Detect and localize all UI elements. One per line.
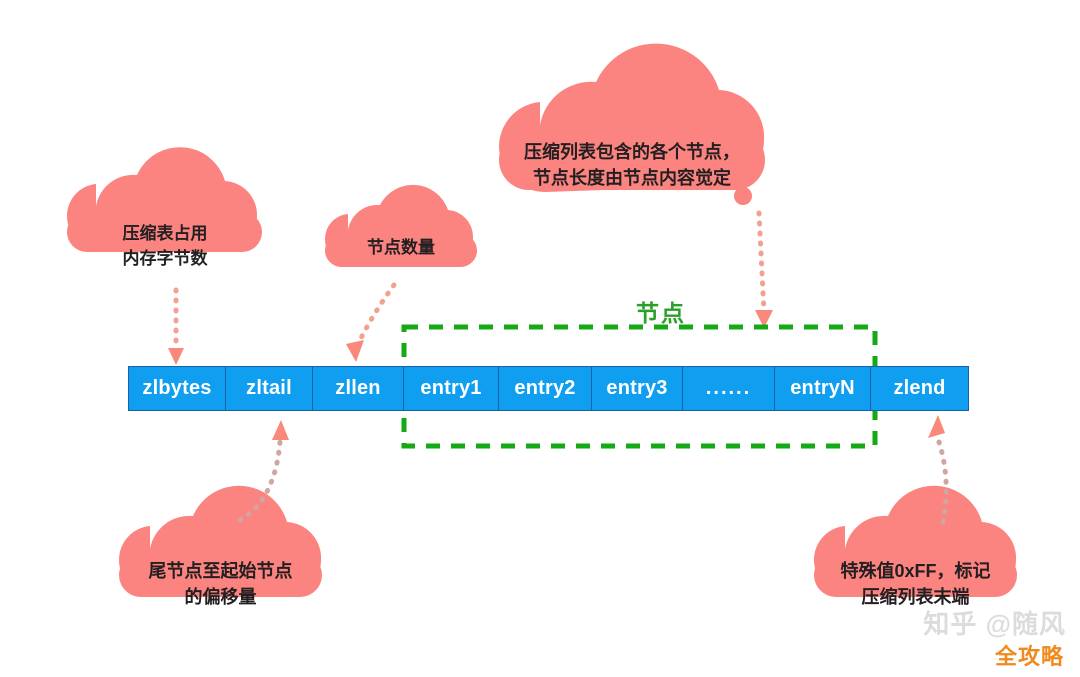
ziplist-cell-label: zllen [335,377,380,400]
connector-entries [755,213,773,328]
watermark-secondary: 全攻略 [995,639,1064,671]
ziplist-diagram-canvas: 节点 压缩表占用 内存字节数 节点数量 压缩列表包含的各个节点， 节点长度由节点… [0,0,1080,677]
connector-zltail [240,420,289,520]
callout-text-zltail: 尾节点至起始节点 的偏移量 [127,558,314,610]
ziplist-cell-label: entryN [790,377,855,400]
callout-text-entries: 压缩列表包含的各个节点， 节点长度由节点内容觉定 [508,139,756,191]
ziplist-structure-bar: zlbytes zltail zllen entry1 entry2 entry… [128,366,969,411]
cloud-shape-zlend [814,486,1017,597]
ziplist-cell-entry3[interactable]: entry3 [592,367,683,410]
ziplist-cell-label: entry2 [514,377,575,400]
diagram-vector-layer [0,0,1080,677]
ziplist-cell-label: zlend [893,377,945,400]
connector-zlend [928,415,946,522]
ziplist-cell-entry2[interactable]: entry2 [499,367,592,410]
ziplist-cell-label: ...... [706,377,751,400]
ziplist-cell-label: zltail [246,377,292,400]
ziplist-cell-zlbytes[interactable]: zlbytes [129,367,226,410]
ziplist-cell-entryN[interactable]: entryN [775,367,871,410]
ziplist-cell-ellipsis[interactable]: ...... [683,367,775,410]
connector-zlbytes [168,290,184,365]
ziplist-cell-zltail[interactable]: zltail [226,367,313,410]
cloud-shape-zllen [325,185,477,267]
ziplist-cell-label: zlbytes [142,377,211,400]
connector-zllen [346,285,394,362]
node-group-label: 节点 [636,294,686,328]
ziplist-cell-label: entry1 [420,377,481,400]
cloud-shape-zltail [119,486,322,597]
ziplist-cell-zlend[interactable]: zlend [871,367,968,410]
callout-text-zlend: 特殊值0xFF，标记 压缩列表末端 [822,558,1009,610]
ziplist-cell-label: entry3 [606,377,667,400]
watermark-primary: 知乎 @随风 [923,604,1066,641]
callout-text-zlbytes: 压缩表占用 内存字节数 [76,222,254,271]
ziplist-cell-zllen[interactable]: zllen [313,367,404,410]
cloud-shape-zlbytes [67,147,262,252]
callout-text-zllen: 节点数量 [333,236,469,261]
cloud-shape-entries [499,44,765,205]
ziplist-cell-entry1[interactable]: entry1 [404,367,499,410]
